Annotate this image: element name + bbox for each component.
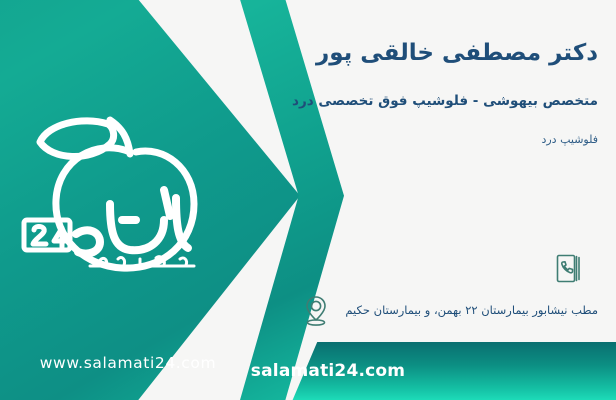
phone-book-icon bbox=[552, 252, 586, 286]
badge-24 bbox=[24, 220, 70, 250]
doctor-specialty: متخصص بیهوشی - فلوشیپ فوق تخصصی درد bbox=[238, 92, 598, 111]
contact-row-address: مطب نیشابور بیمارستان ۲۲ بهمن، و بیمارست… bbox=[238, 294, 598, 328]
contact-block: مطب نیشابور بیمارستان ۲۲ بهمن، و بیمارست… bbox=[238, 252, 598, 336]
location-pin-icon bbox=[299, 294, 333, 328]
salamati24-logo: www.salamati24.com bbox=[18, 108, 238, 276]
doctor-subspecialty: فلوشیپ درد bbox=[238, 132, 598, 147]
apple-outline-icon bbox=[18, 108, 238, 276]
logo-website-url: www.salamati24.com bbox=[18, 354, 238, 372]
doctor-profile-card: www.salamati24.com دکتر مصطفی خالقی پور … bbox=[0, 0, 616, 400]
contact-row-phone bbox=[238, 252, 598, 286]
contact-address-text: مطب نیشابور بیمارستان ۲۲ بهمن، و بیمارست… bbox=[345, 302, 598, 319]
doctor-name: دکتر مصطفی خالقی پور bbox=[238, 38, 598, 69]
